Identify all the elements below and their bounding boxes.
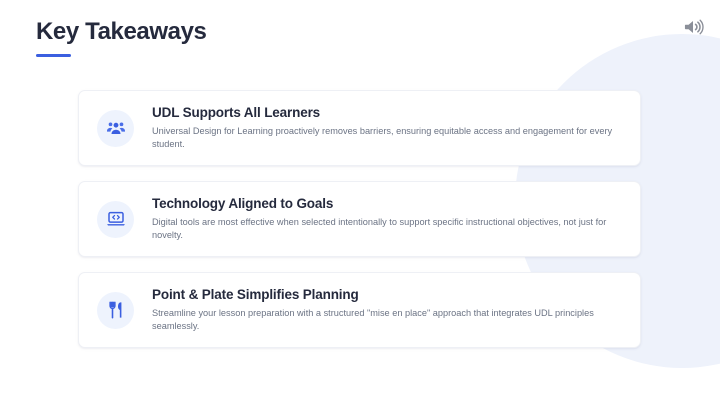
- card-body: Technology Aligned to Goals Digital tool…: [152, 196, 622, 242]
- takeaway-card-3[interactable]: Point & Plate Simplifies Planning Stream…: [78, 272, 641, 348]
- page-title: Key Takeaways: [36, 19, 206, 45]
- slide-canvas: Key Takeaways UDL Supports All Learners …: [0, 0, 720, 405]
- card-description: Universal Design for Learning proactivel…: [152, 125, 616, 151]
- card-description: Streamline your lesson preparation with …: [152, 307, 616, 333]
- takeaway-card-1[interactable]: UDL Supports All Learners Universal Desi…: [78, 90, 641, 166]
- users-group-icon: [97, 110, 134, 147]
- utensils-fork-knife-icon: [97, 292, 134, 329]
- speaker-volume-icon[interactable]: [682, 16, 704, 38]
- takeaway-card-list: UDL Supports All Learners Universal Desi…: [78, 90, 641, 348]
- takeaway-card-2[interactable]: Technology Aligned to Goals Digital tool…: [78, 181, 641, 257]
- laptop-code-icon: [97, 201, 134, 238]
- card-body: Point & Plate Simplifies Planning Stream…: [152, 287, 622, 333]
- card-title: Point & Plate Simplifies Planning: [152, 287, 616, 303]
- card-body: UDL Supports All Learners Universal Desi…: [152, 105, 622, 151]
- card-title: UDL Supports All Learners: [152, 105, 616, 121]
- card-description: Digital tools are most effective when se…: [152, 216, 616, 242]
- card-title: Technology Aligned to Goals: [152, 196, 616, 212]
- title-block: Key Takeaways: [36, 19, 206, 57]
- title-underline-accent: [36, 54, 71, 57]
